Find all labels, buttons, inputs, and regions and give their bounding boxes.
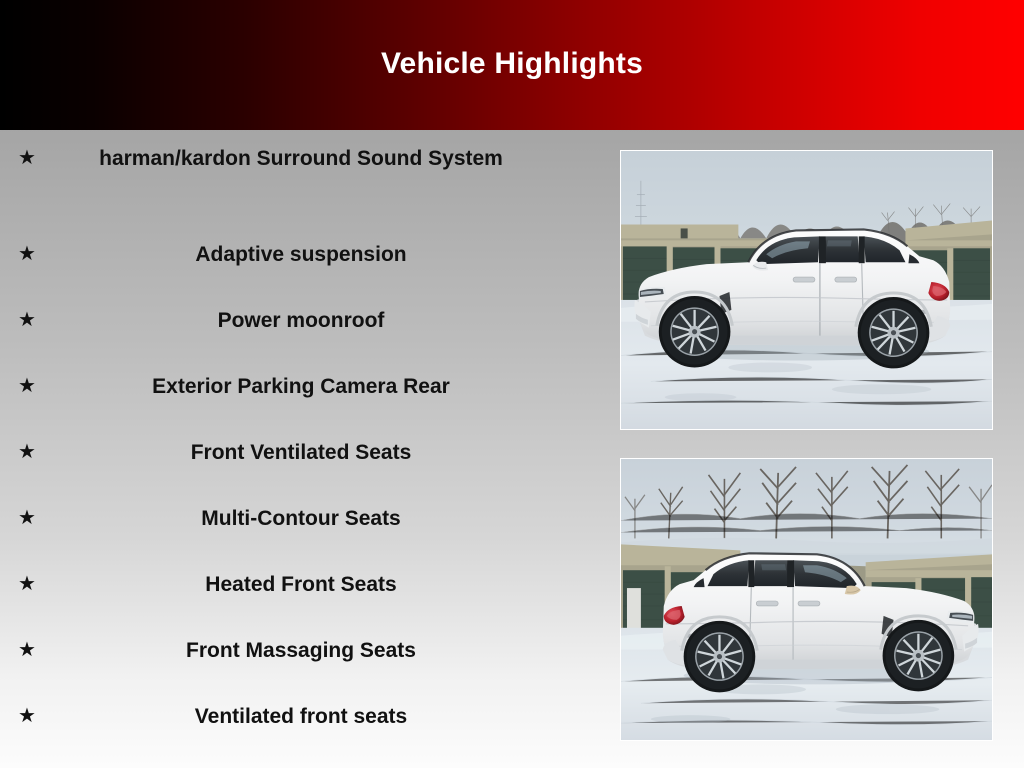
list-item: ★ Exterior Parking Camera Rear bbox=[0, 371, 600, 437]
star-icon: ★ bbox=[12, 701, 48, 731]
star-icon: ★ bbox=[12, 305, 48, 335]
highlight-label: Front Ventilated Seats bbox=[48, 437, 600, 469]
list-item: ★ harman/kardon Surround Sound System bbox=[0, 143, 600, 239]
star-icon: ★ bbox=[12, 569, 48, 599]
list-item: ★ Front Ventilated Seats bbox=[0, 437, 600, 503]
highlight-label: harman/kardon Surround Sound System bbox=[48, 143, 600, 175]
highlight-label: Heated Front Seats bbox=[48, 569, 600, 601]
list-item: ★ Multi-Contour Seats bbox=[0, 503, 600, 569]
star-icon: ★ bbox=[12, 143, 48, 173]
star-icon: ★ bbox=[12, 635, 48, 665]
vehicle-photo-driver-side-image bbox=[621, 151, 992, 429]
list-item: ★ Adaptive suspension bbox=[0, 239, 600, 305]
star-icon: ★ bbox=[12, 437, 48, 467]
star-icon: ★ bbox=[12, 239, 48, 269]
list-item: ★ Ventilated front seats bbox=[0, 701, 600, 767]
star-icon: ★ bbox=[12, 503, 48, 533]
highlight-label: Power moonroof bbox=[48, 305, 600, 337]
slide-content: ★ harman/kardon Surround Sound System ★ … bbox=[0, 130, 1024, 768]
highlight-label: Ventilated front seats bbox=[48, 701, 600, 733]
highlight-label: Multi-Contour Seats bbox=[48, 503, 600, 535]
vehicle-photo-driver-side bbox=[620, 150, 993, 430]
vehicle-photo-passenger-side bbox=[620, 458, 993, 741]
vehicle-photo-passenger-side-image bbox=[621, 459, 992, 740]
list-item: ★ Front Massaging Seats bbox=[0, 635, 600, 701]
star-icon: ★ bbox=[12, 371, 48, 401]
page-title: Vehicle Highlights bbox=[381, 47, 643, 81]
list-item: ★ Heated Front Seats bbox=[0, 569, 600, 635]
list-item: ★ Power moonroof bbox=[0, 305, 600, 371]
page-header-banner: Vehicle Highlights bbox=[0, 0, 1024, 130]
vehicle-highlights-list: ★ harman/kardon Surround Sound System ★ … bbox=[0, 130, 600, 768]
highlight-label: Adaptive suspension bbox=[48, 239, 600, 271]
highlight-label: Exterior Parking Camera Rear bbox=[48, 371, 600, 403]
highlight-label: Front Massaging Seats bbox=[48, 635, 600, 667]
